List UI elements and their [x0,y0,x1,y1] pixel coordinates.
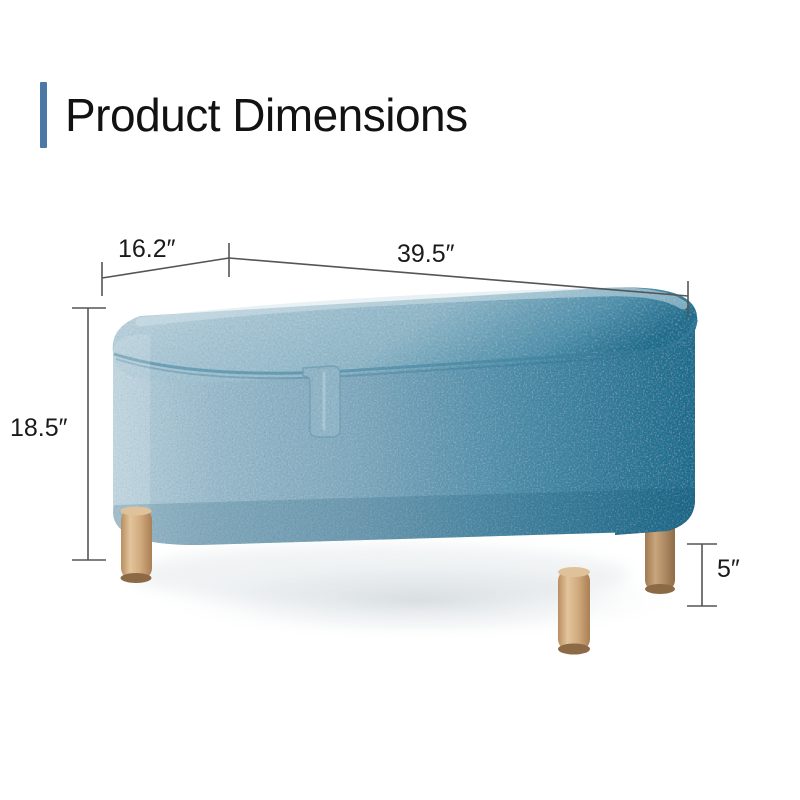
product-dimensions-page: Product Dimensions [0,0,800,800]
dimension-label-height: 18.5″ [10,414,68,443]
product-illustration [0,0,800,800]
dimension-label-width: 39.5″ [397,240,455,269]
dimension-label-leg: 5″ [717,555,740,584]
leg-front-right [558,567,590,655]
bench-body [113,287,698,546]
dimension-label-depth: 16.2″ [118,235,176,264]
floor-shadow-soft [130,545,630,605]
leg-front-left [121,507,153,584]
